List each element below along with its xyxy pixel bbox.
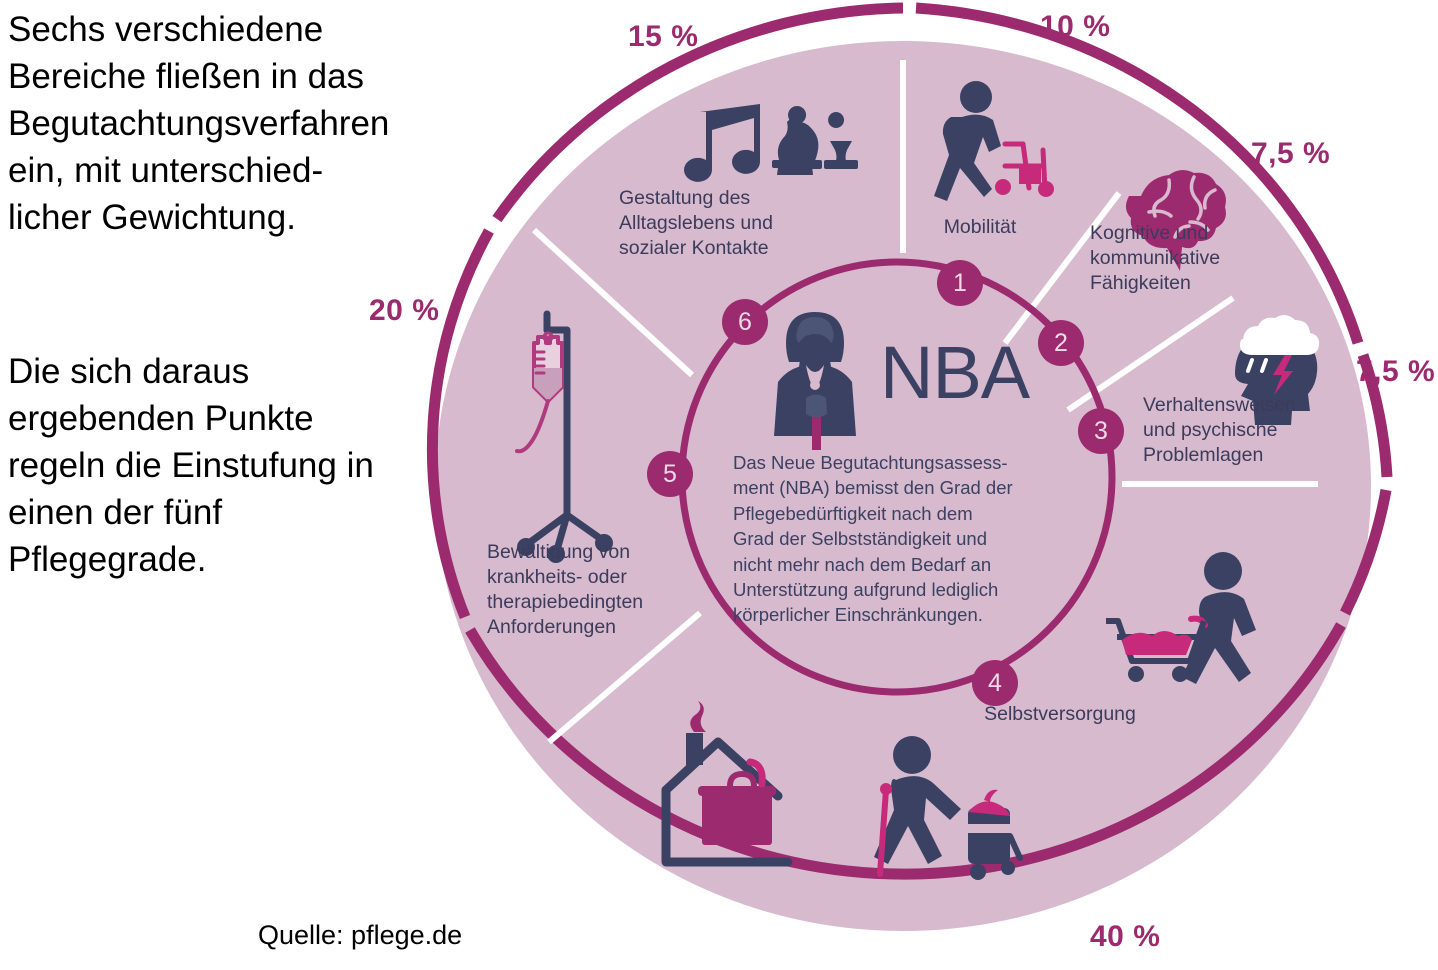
nba-description: Das Neue Begutachtungsassess- ment (NBA)… [733,450,1053,628]
module-badge-3[interactable]: 3 [1078,408,1124,454]
percent-label-selbstversorgung: 40 % [1090,920,1160,954]
segment-label-mobilitaet: Mobilität [901,215,1059,240]
module-badge-4-label: 4 [988,669,1002,697]
module-badge-6-label: 6 [738,308,752,336]
percent-label-kognitive: 7,5 % [1251,137,1330,171]
percent-label-bewaeltigung: 20 % [369,294,439,328]
module-badge-5-label: 5 [663,460,677,488]
infographic-canvas: Sechs verschiedene Bereiche fließen in d… [0,0,1438,970]
module-badge-4[interactable]: 4 [972,660,1018,706]
segment-label-bewaeltigung: Bewältigung von krankheits- oder therapi… [487,540,707,640]
module-badge-1-label: 1 [953,269,967,297]
percent-label-gestaltung: 15 % [628,20,698,54]
percent-label-verhaltensweisen: 7,5 % [1356,355,1435,389]
module-badge-5[interactable]: 5 [647,451,693,497]
module-badge-6[interactable]: 6 [722,299,768,345]
segment-label-gestaltung: Gestaltung des Alltagslebens und soziale… [619,186,829,261]
percent-label-mobilitaet: 10 % [1040,10,1110,44]
segment-label-kognitive: Kognitive und kommunikative Fähigkeiten [1090,221,1290,296]
module-badge-2[interactable]: 2 [1038,320,1084,366]
nba-wheel: 1 2 3 4 5 6 [0,0,1438,970]
segment-label-selbstversorgung: Selbstversorgung [954,702,1166,727]
nba-acronym: NBA [880,336,1029,410]
module-badge-1[interactable]: 1 [937,260,983,306]
module-badge-2-label: 2 [1054,329,1068,357]
segment-label-verhaltensweisen: Verhaltensweisen und psychische Probleml… [1143,393,1343,468]
module-badge-3-label: 3 [1094,417,1108,445]
